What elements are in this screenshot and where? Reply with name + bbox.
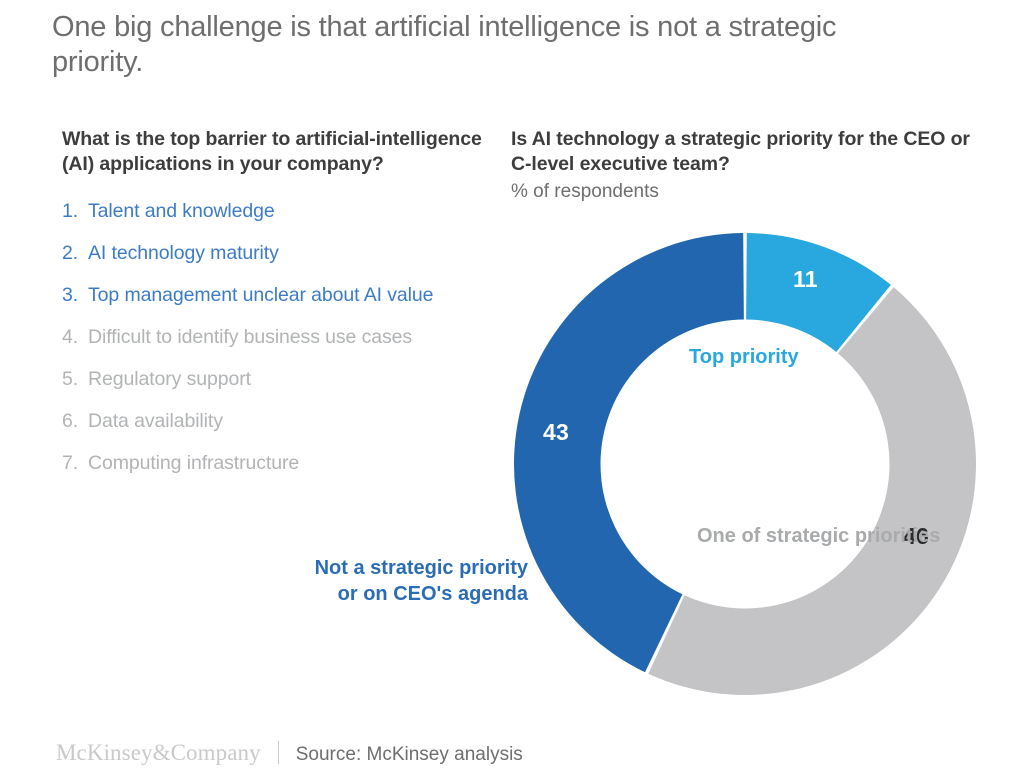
list-item-label: Top management unclear about AI value — [88, 284, 433, 306]
right-panel: Is AI technology a strategic priority fo… — [511, 127, 981, 204]
donut-slice-not-a-strategic-priority — [514, 233, 744, 672]
list-item: 6.Data availability — [62, 409, 502, 451]
list-item-number: 5. — [62, 367, 88, 392]
list-item-number: 2. — [62, 241, 88, 266]
list-item-number: 3. — [62, 283, 88, 308]
page-title: One big challenge is that artificial int… — [52, 10, 852, 80]
list-item-label: Data availability — [88, 410, 223, 432]
list-item: 4.Difficult to identify business use cas… — [62, 325, 502, 367]
barrier-question: What is the top barrier to artificial-in… — [62, 127, 502, 177]
donut-slice-top-priority — [746, 233, 891, 352]
priority-question: Is AI technology a strategic priority fo… — [511, 127, 981, 177]
footer: McKinsey&Company Source: McKinsey analys… — [56, 737, 523, 766]
priority-subtitle: % of respondents — [511, 180, 981, 204]
source-note: Source: McKinsey analysis — [296, 744, 523, 766]
list-item: 1.Talent and knowledge — [62, 199, 502, 241]
donut-label-not-a-strategic-priority: Not a strategic priority or on CEO's age… — [188, 555, 528, 607]
list-item-label: Regulatory support — [88, 368, 251, 390]
donut-label-one-of-strategic-priorities: One of strategic priorities — [697, 524, 867, 549]
donut-slice-one-of-strategic-priorities — [648, 287, 976, 695]
list-item-number: 6. — [62, 409, 88, 434]
list-item-label: Computing infrastructure — [88, 452, 299, 474]
list-item: 3.Top management unclear about AI value — [62, 283, 502, 325]
list-item-label: AI technology maturity — [88, 242, 279, 264]
mckinsey-logo: McKinsey&Company — [56, 740, 261, 766]
list-item-label: Difficult to identify business use cases — [88, 326, 412, 348]
donut-value-top-priority: 11 — [793, 266, 818, 293]
list-item-number: 1. — [62, 199, 88, 224]
donut-chart-svg — [513, 232, 977, 696]
footer-divider — [278, 741, 279, 764]
donut-label-line-2: or on CEO's agenda — [188, 581, 528, 607]
donut-label-top-priority: Top priority — [689, 345, 799, 370]
donut-label-line-1: One of strategic priorities — [697, 525, 940, 547]
left-panel: What is the top barrier to artificial-in… — [62, 127, 502, 493]
barrier-list: 1.Talent and knowledge 2.AI technology m… — [62, 199, 502, 493]
slide-canvas: One big challenge is that artificial int… — [0, 0, 1024, 770]
list-item: 5.Regulatory support — [62, 367, 502, 409]
donut-slices — [514, 233, 976, 695]
list-item: 2.AI technology maturity — [62, 241, 502, 283]
list-item-label: Talent and knowledge — [88, 200, 275, 222]
donut-value-one-of-strategic-priorities: 46 — [903, 523, 929, 550]
list-item-number: 4. — [62, 325, 88, 350]
donut-value-not-a-strategic-priority: 43 — [543, 419, 569, 446]
list-item: 7.Computing infrastructure — [62, 451, 502, 493]
list-item-number: 7. — [62, 451, 88, 476]
donut-label-line-1: Not a strategic priority — [188, 555, 528, 581]
